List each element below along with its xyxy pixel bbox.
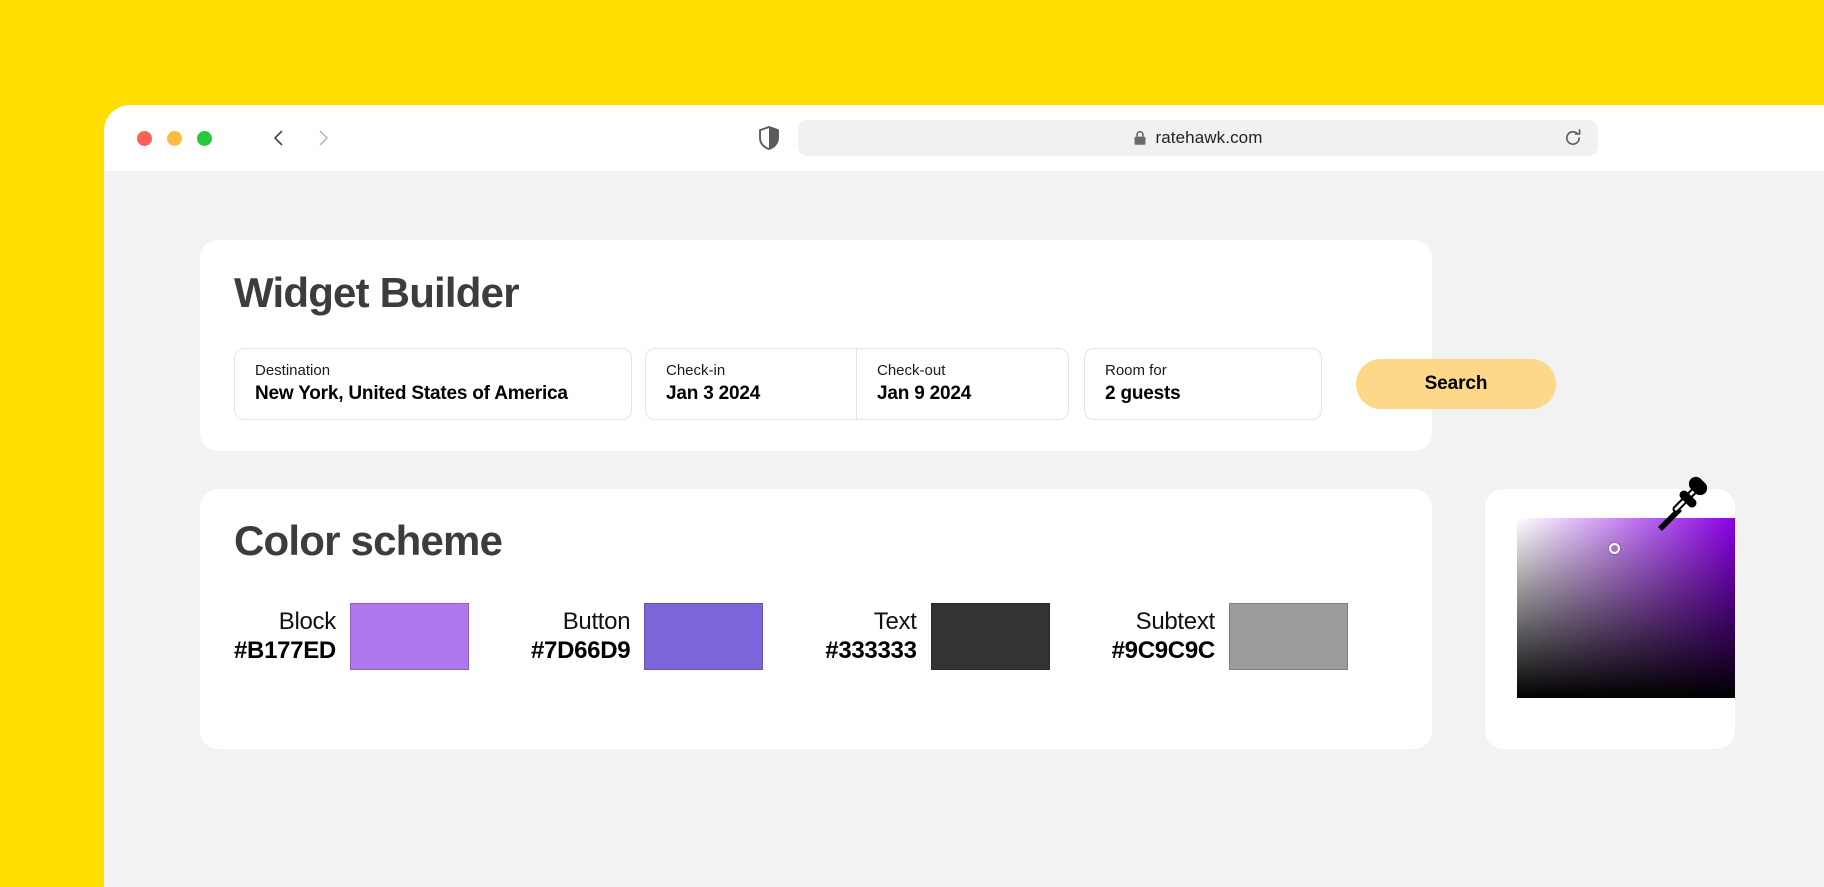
swatch-block-hex: #B177ED — [234, 637, 336, 665]
checkout-field[interactable]: Check-out Jan 9 2024 — [857, 348, 1069, 420]
page-viewport: Widget Builder Destination New York, Uni… — [104, 171, 1824, 887]
maximize-window-button[interactable] — [197, 131, 212, 146]
swatch-block[interactable]: Block #B177ED — [234, 603, 469, 670]
swatch-button-hex: #7D66D9 — [531, 637, 630, 665]
url-text: ratehawk.com — [1155, 128, 1262, 148]
minimize-window-button[interactable] — [167, 131, 182, 146]
guests-field[interactable]: Room for 2 guests — [1084, 348, 1322, 420]
color-handle[interactable] — [1609, 543, 1620, 554]
swatch-subtext-chip[interactable] — [1229, 603, 1348, 670]
color-scheme-card: Color scheme Block #B177ED Button #7D66D… — [200, 489, 1432, 749]
swatch-block-name: Block — [279, 608, 336, 636]
browser-window: ratehawk.com Widget Builder Destination … — [104, 105, 1824, 887]
color-scheme-title: Color scheme — [234, 517, 502, 565]
swatch-text-name: Text — [874, 608, 917, 636]
browser-chrome: ratehawk.com — [104, 105, 1824, 171]
swatch-text-text: Text #333333 — [825, 608, 916, 664]
swatch-text[interactable]: Text #333333 — [825, 603, 1049, 670]
destination-field[interactable]: Destination New York, United States of A… — [234, 348, 632, 420]
checkin-value: Jan 3 2024 — [666, 383, 836, 406]
search-form: Destination New York, United States of A… — [234, 348, 1556, 420]
swatch-text-hex: #333333 — [825, 637, 916, 665]
swatch-button-chip[interactable] — [644, 603, 763, 670]
swatch-text-chip[interactable] — [931, 603, 1050, 670]
close-window-button[interactable] — [137, 131, 152, 146]
swatch-button-name: Button — [563, 608, 631, 636]
checkin-label: Check-in — [666, 362, 836, 379]
checkout-value: Jan 9 2024 — [877, 383, 1048, 406]
guests-value: 2 guests — [1105, 383, 1301, 406]
window-controls — [137, 131, 212, 146]
color-picker-panel — [1485, 489, 1735, 749]
search-button[interactable]: Search — [1356, 359, 1556, 409]
forward-button[interactable] — [310, 125, 336, 151]
destination-label: Destination — [255, 362, 611, 379]
lock-icon — [1133, 130, 1147, 146]
widget-builder-card: Widget Builder Destination New York, Uni… — [200, 240, 1432, 451]
swatch-button[interactable]: Button #7D66D9 — [531, 603, 763, 670]
destination-value: New York, United States of America — [255, 383, 611, 406]
swatch-button-text: Button #7D66D9 — [531, 608, 630, 664]
reload-icon — [1563, 128, 1583, 148]
checkout-label: Check-out — [877, 362, 1048, 379]
reload-button[interactable] — [1562, 127, 1584, 149]
swatch-row: Block #B177ED Button #7D66D9 Text #3 — [234, 603, 1348, 670]
swatch-subtext-text: Subtext #9C9C9C — [1112, 608, 1215, 664]
date-field-group: Check-in Jan 3 2024 Check-out Jan 9 2024 — [645, 348, 1069, 420]
navigation-buttons — [266, 125, 336, 151]
saturation-value-area[interactable] — [1517, 518, 1735, 698]
swatch-block-text: Block #B177ED — [234, 608, 336, 664]
guests-label: Room for — [1105, 362, 1301, 379]
address-bar[interactable]: ratehawk.com — [798, 120, 1598, 156]
page-title: Widget Builder — [234, 269, 519, 317]
tracking-protection-button[interactable] — [756, 125, 782, 151]
chevron-left-icon — [269, 128, 289, 148]
checkin-field[interactable]: Check-in Jan 3 2024 — [645, 348, 857, 420]
swatch-block-chip[interactable] — [350, 603, 469, 670]
swatch-subtext-hex: #9C9C9C — [1112, 637, 1215, 665]
shield-icon — [758, 126, 780, 150]
chevron-right-icon — [313, 128, 333, 148]
swatch-subtext-name: Subtext — [1136, 608, 1215, 636]
swatch-subtext[interactable]: Subtext #9C9C9C — [1112, 603, 1348, 670]
back-button[interactable] — [266, 125, 292, 151]
